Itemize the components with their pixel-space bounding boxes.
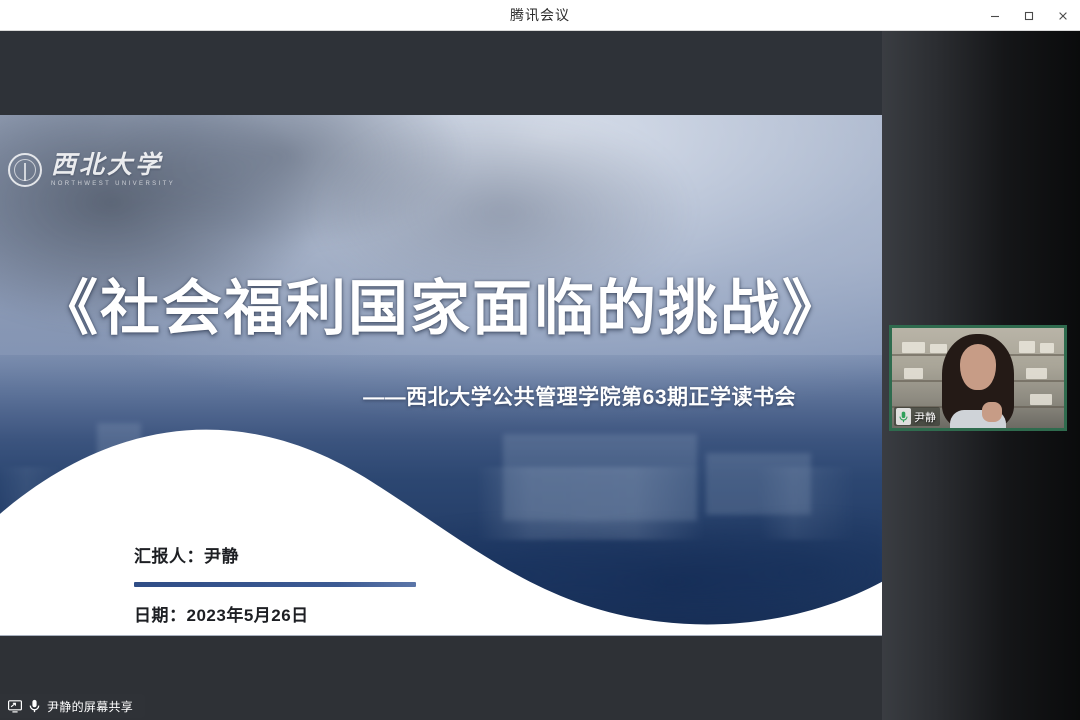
minimize-button[interactable] bbox=[978, 0, 1012, 31]
maximize-button[interactable] bbox=[1012, 0, 1046, 31]
app-title: 腾讯会议 bbox=[0, 0, 1080, 30]
participant-video-tile[interactable]: 尹静 bbox=[889, 325, 1067, 431]
microphone-icon bbox=[29, 699, 40, 713]
screen-share-status-text: 尹静的屏幕共享 bbox=[47, 698, 133, 715]
slide-presenter: 汇报人：尹静 bbox=[134, 542, 416, 567]
university-name-en: NORTHWEST UNIVERSITY bbox=[51, 181, 175, 187]
slide-title: 《社会福利国家面临的挑战》 bbox=[0, 260, 882, 347]
participant-webcam-image bbox=[942, 334, 1014, 431]
close-button[interactable] bbox=[1046, 0, 1080, 31]
microphone-icon[interactable] bbox=[896, 408, 911, 425]
university-logo-text: 西北大学 NORTHWEST UNIVERSITY bbox=[51, 153, 175, 187]
participant-name-bar: 尹静 bbox=[894, 407, 940, 426]
letterbox-top bbox=[0, 31, 882, 115]
presentation-slide: 西北大学 NORTHWEST UNIVERSITY 《社会福利国家面临的挑战》 … bbox=[0, 115, 882, 636]
tencent-meeting-window: 腾讯会议 bbox=[0, 0, 1080, 720]
title-bar: 腾讯会议 bbox=[0, 0, 1080, 31]
slide-wave-shape bbox=[0, 396, 882, 636]
slide-divider-rule bbox=[134, 582, 416, 587]
slide-date: 日期：2023年5月26日 bbox=[134, 601, 416, 626]
shared-screen-stage[interactable]: 西北大学 NORTHWEST UNIVERSITY 《社会福利国家面临的挑战》 … bbox=[0, 31, 1080, 720]
participant-name: 尹静 bbox=[914, 409, 936, 425]
university-logo: 西北大学 NORTHWEST UNIVERSITY bbox=[8, 153, 175, 187]
window-controls bbox=[978, 0, 1080, 31]
monitor-icon bbox=[8, 700, 22, 713]
university-name-cn: 西北大学 bbox=[51, 153, 175, 178]
university-seal-icon bbox=[8, 153, 42, 187]
screen-share-status-bar[interactable]: 尹静的屏幕共享 bbox=[0, 694, 145, 718]
slide-subtitle: ——西北大学公共管理学院第63期正学读书会 bbox=[363, 381, 796, 411]
slide-meta-block: 汇报人：尹静 日期：2023年5月26日 bbox=[134, 542, 416, 626]
